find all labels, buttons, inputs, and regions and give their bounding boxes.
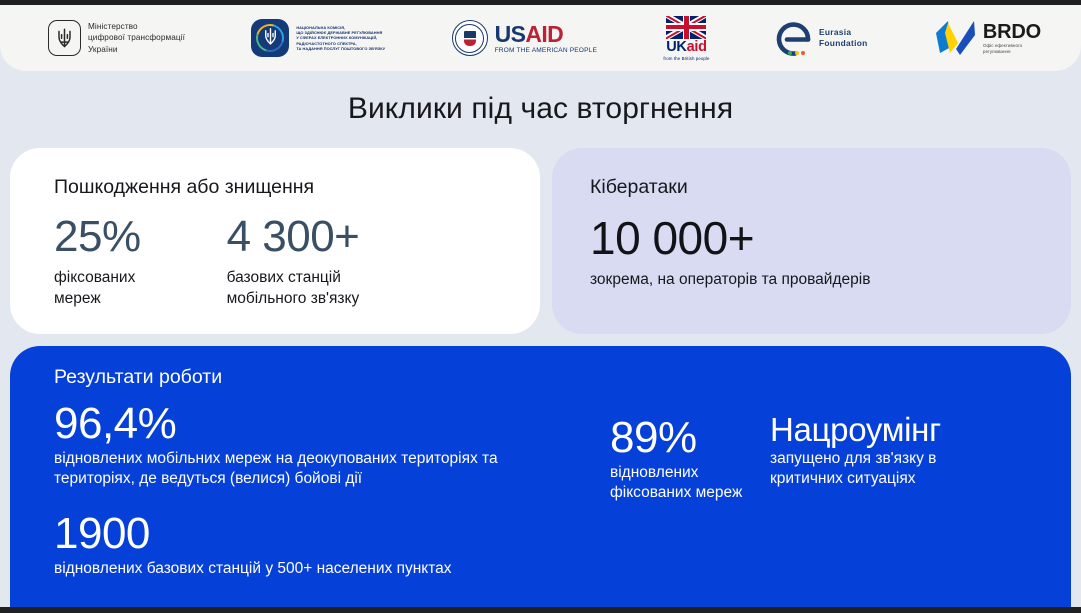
nkek-emblem-icon (251, 19, 289, 57)
result-national-roaming: Нацроумінг запущено для зв'язку в критич… (770, 399, 1030, 579)
logo-ministry-of-digital-transformation: Міністерство цифрової трансформації Укра… (48, 20, 185, 56)
logo-brdo-wordmark: BRDO (983, 22, 1041, 43)
brdo-arrow-icon (934, 19, 976, 57)
logo-usaid-tagline: FROM THE AMERICAN PEOPLE (495, 47, 597, 54)
card-cyberattacks: Кібератаки 10 000+ зокрема, на операторі… (552, 148, 1071, 334)
logo-usaid-wordmark: USAID (495, 23, 597, 46)
stat-cyberattacks-value: 10 000+ (590, 213, 1033, 263)
result-fixed-networks-value: 89% (610, 413, 770, 463)
logo-usaid: USAID FROM THE AMERICAN PEOPLE (452, 20, 597, 56)
results-panel: Результати роботи 96,4% відновлених мобі… (10, 346, 1071, 607)
eurasia-e-icon (776, 20, 812, 56)
logo-nkek: НАЦІОНАЛЬНА КОМІСІЯ, ЩО ЗДІЙСНЮЄ ДЕРЖАВН… (251, 19, 385, 57)
stat-cards-row: Пошкодження або знищення 25% фіксованих … (10, 148, 1071, 334)
stat-base-stations: 4 300+ базових станцій мобільного зв'язк… (227, 213, 360, 309)
logo-usaid-word-second: AID (525, 21, 563, 47)
card-damage-heading: Пошкодження або знищення (54, 176, 502, 199)
result-fixed-networks-label: відновлених фіксованих мереж (610, 463, 770, 503)
logo-eurasia-foundation: Eurasia Foundation (776, 20, 868, 56)
logo-brdo-tagline: Офіс ефективного регулювання (983, 43, 1041, 55)
logo-ministry-label: Міністерство цифрової трансформації Укра… (88, 21, 185, 56)
card-damage-stats: 25% фіксованих мереж 4 300+ базових стан… (54, 213, 502, 309)
stat-cyberattacks-label: зокрема, на операторів та провайдерів (590, 269, 1033, 290)
result-national-roaming-value: Нацроумінг (770, 411, 1030, 449)
result-mobile-networks: 96,4% відновлених мобільних мереж на део… (54, 399, 610, 489)
card-damage: Пошкодження або знищення 25% фіксованих … (10, 148, 540, 334)
logo-nkek-label: НАЦІОНАЛЬНА КОМІСІЯ, ЩО ЗДІЙСНЮЄ ДЕРЖАВН… (296, 25, 385, 51)
logo-usaid-word-first: US (495, 21, 526, 47)
result-mobile-networks-value: 96,4% (54, 399, 610, 449)
results-body: 96,4% відновлених мобільних мереж на део… (54, 399, 1071, 579)
bottom-edge-strip (0, 607, 1081, 613)
stat-fixed-networks-value: 25% (54, 213, 141, 261)
card-cyberattacks-heading: Кібератаки (590, 176, 1033, 199)
ukraine-trident-icon (48, 20, 81, 56)
logo-ukaid: UKaid from the British people (663, 16, 709, 61)
logo-ukaid-tagline: from the British people (663, 56, 709, 61)
stat-fixed-networks: 25% фіксованих мереж (54, 213, 141, 309)
page-title: Виклики під час вторгнення (0, 92, 1081, 126)
logo-brdo: BRDO Офіс ефективного регулювання (934, 19, 1041, 57)
result-base-stations-label: відновлених базових станцій у 500+ насел… (54, 559, 610, 579)
results-heading: Результати роботи (54, 366, 1071, 389)
result-mobile-networks-label: відновлених мобільних мереж на деокупова… (54, 449, 610, 489)
results-left-column: 96,4% відновлених мобільних мереж на део… (54, 399, 610, 579)
logo-ukaid-wordmark: UKaid (666, 40, 706, 55)
logo-ukaid-word-first: UK (666, 39, 686, 55)
usaid-seal-icon (452, 20, 488, 56)
union-jack-flag-icon (666, 16, 706, 39)
partner-logo-bar: Міністерство цифрової трансформації Укра… (0, 5, 1081, 71)
logo-eurasia-label: Eurasia Foundation (819, 27, 868, 49)
stat-base-stations-label: базових станцій мобільного зв'язку (227, 267, 360, 309)
stat-base-stations-value: 4 300+ (227, 213, 360, 261)
logo-ukaid-word-second: aid (687, 39, 707, 55)
eurasia-dots-icon (788, 51, 805, 55)
result-national-roaming-label: запущено для зв'язку в критичних ситуаці… (770, 449, 1030, 489)
result-fixed-networks: 89% відновлених фіксованих мереж (610, 399, 770, 579)
result-base-stations-value: 1900 (54, 509, 610, 559)
result-base-stations: 1900 відновлених базових станцій у 500+ … (54, 509, 610, 579)
stat-fixed-networks-label: фіксованих мереж (54, 267, 141, 309)
